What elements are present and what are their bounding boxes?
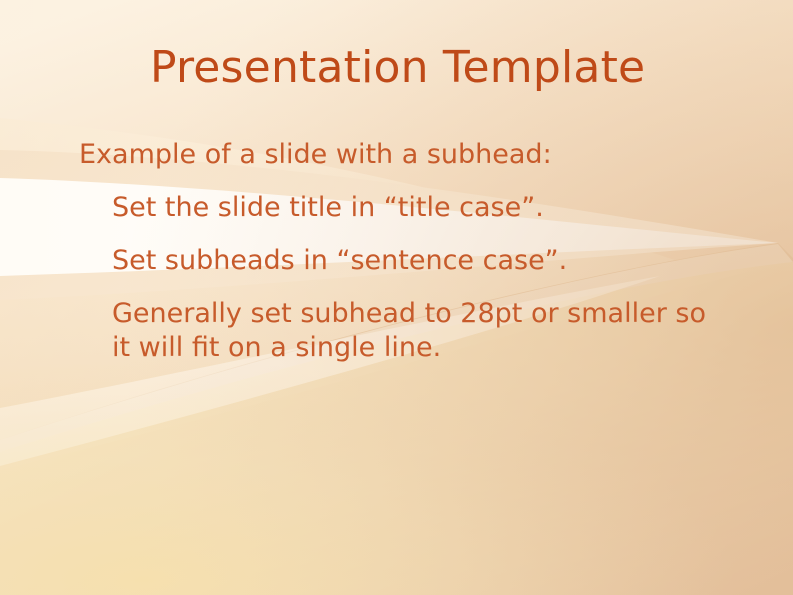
body-line-subhead-size: Generally set subhead to 28pt or smaller… [112,297,712,365]
body-line-sentence-case: Set subheads in “sentence case”. [112,244,793,278]
body-line-title-case: Set the slide title in “title case”. [112,191,793,225]
page-title: Presentation Template [150,40,645,96]
slide-content: Presentation Template Example of a slide… [0,0,793,595]
presentation-slide: Presentation Template Example of a slide… [0,0,793,595]
slide-body: Example of a slide with a subhead: Set t… [0,138,793,365]
body-line-subhead: Example of a slide with a subhead: [79,138,793,172]
